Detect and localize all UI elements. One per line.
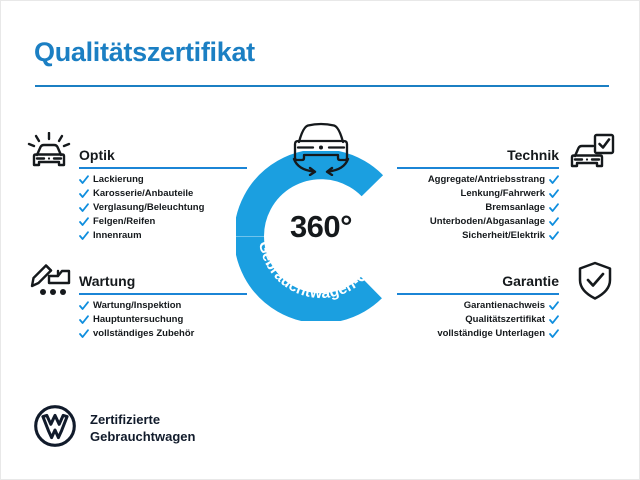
section-technik-title: Technik xyxy=(507,147,559,163)
section-optik-title: Optik xyxy=(79,147,115,163)
list-item: vollständige Unterlagen xyxy=(309,327,559,341)
check-icon xyxy=(549,231,559,241)
list-item-label: Bremsanlage xyxy=(485,203,545,213)
list-item-label: Qualitätszertifikat xyxy=(465,315,545,325)
list-item-label: Aggregate/Antriebsstrang xyxy=(428,175,545,185)
check-icon xyxy=(549,189,559,199)
check-icon xyxy=(549,175,559,185)
shield-check-icon xyxy=(577,261,613,306)
page-title: Qualitätszertifikat xyxy=(34,37,255,68)
list-item-label: Hauptuntersuchung xyxy=(93,315,183,325)
badge-center-label: 360° xyxy=(236,209,406,245)
list-item-label: Wartung/Inspektion xyxy=(93,301,181,311)
check-icon xyxy=(79,217,89,227)
section-garantie-title: Garantie xyxy=(502,273,559,289)
badge-360-gebrauchtwagen-check: Gebrauchtwagen-Check 360° xyxy=(236,151,406,321)
check-icon xyxy=(549,329,559,339)
footer-line-2: Gebrauchtwagen xyxy=(90,429,195,446)
check-icon xyxy=(549,217,559,227)
check-icon xyxy=(79,189,89,199)
certificate-page: Qualitätszertifikat xyxy=(0,0,640,480)
list-item-label: Lackierung xyxy=(93,175,144,185)
car-check-icon xyxy=(569,132,617,177)
list-item-label: vollständige Unterlagen xyxy=(437,329,545,339)
section-garantie-divider xyxy=(397,293,559,295)
check-icon xyxy=(79,315,89,325)
section-technik-divider xyxy=(397,167,559,169)
check-icon xyxy=(79,231,89,241)
check-icon xyxy=(549,301,559,311)
list-item-label: Karosserie/Anbauteile xyxy=(93,189,193,199)
list-item-label: Felgen/Reifen xyxy=(93,217,155,227)
check-icon xyxy=(79,301,89,311)
check-icon xyxy=(79,175,89,185)
footer-brand: Zertifizierte Gebrauchtwagen xyxy=(34,405,195,452)
footer-text: Zertifizierte Gebrauchtwagen xyxy=(90,412,195,445)
section-wartung-divider xyxy=(79,293,247,295)
list-item-label: Innenraum xyxy=(93,231,142,241)
vw-logo-icon xyxy=(34,405,76,452)
check-icon xyxy=(79,203,89,213)
car-front-rotate-icon xyxy=(284,120,358,176)
list-item: vollständiges Zubehör xyxy=(79,327,329,341)
check-icon xyxy=(79,329,89,339)
car-polish-icon xyxy=(27,132,71,177)
section-optik-divider xyxy=(79,167,247,169)
list-item-label: vollständiges Zubehör xyxy=(93,329,194,339)
check-icon xyxy=(549,203,559,213)
title-divider xyxy=(35,85,609,87)
check-icon xyxy=(549,315,559,325)
section-wartung-title: Wartung xyxy=(79,273,135,289)
list-item-label: Lenkung/Fahrwerk xyxy=(461,189,545,199)
list-item-label: Sicherheit/Elektrik xyxy=(462,231,545,241)
list-item-label: Verglasung/Beleuchtung xyxy=(93,203,204,213)
footer-line-1: Zertifizierte xyxy=(90,412,195,429)
list-item-label: Garantienachweis xyxy=(464,301,545,311)
list-item-label: Unterboden/Abgasanlage xyxy=(430,217,545,227)
car-service-pencil-icon xyxy=(27,259,75,304)
